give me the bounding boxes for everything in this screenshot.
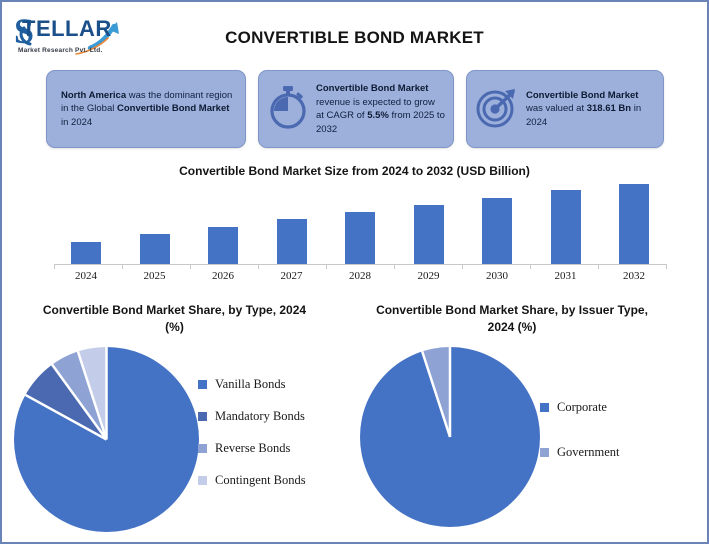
infographic-page: S TELLAR Market Research Pvt. Ltd. CONVE… [0, 0, 709, 544]
pie-left-title: Convertible Bond Market Share, by Type, … [32, 302, 317, 336]
legend-swatch [540, 403, 549, 412]
x-tick-label: 2024 [54, 270, 118, 282]
axis-tick [598, 264, 599, 269]
x-tick-label: 2027 [260, 270, 324, 282]
legend-label: Reverse Bonds [215, 441, 290, 456]
axis-tick [326, 264, 327, 269]
bar-slot [397, 184, 461, 264]
pie-left-legend: Vanilla BondsMandatory BondsReverse Bond… [198, 368, 306, 496]
bar-2028 [345, 212, 375, 264]
bar-chart-plot [54, 184, 666, 264]
legend-item[interactable]: Government [540, 430, 619, 475]
bar-chart-axis [54, 264, 666, 265]
x-tick-label: 2030 [465, 270, 529, 282]
highlight-text-cagr: Convertible Bond Market revenue is expec… [316, 82, 445, 136]
stopwatch-icon [267, 84, 309, 135]
legend-swatch [540, 448, 549, 457]
axis-tick [462, 264, 463, 269]
x-tick-label: 2029 [397, 270, 461, 282]
bar-slot [534, 184, 598, 264]
page-title: CONVERTIBLE BOND MARKET [2, 28, 707, 48]
bar-slot [191, 184, 255, 264]
bar-slot [123, 184, 187, 264]
pie-slice-separators [360, 347, 540, 527]
legend-item[interactable]: Corporate [540, 385, 619, 430]
bar-2026 [208, 227, 238, 264]
bar-2027 [277, 219, 307, 264]
bar-slot [602, 184, 666, 264]
axis-tick [258, 264, 259, 269]
legend-item[interactable]: Contingent Bonds [198, 464, 306, 496]
legend-swatch [198, 476, 207, 485]
bar-slot [260, 184, 324, 264]
bar-slot [465, 184, 529, 264]
legend-label: Mandatory Bonds [215, 409, 305, 424]
highlight-text-region: North America was the dominant region in… [61, 89, 237, 130]
bar-chart-x-labels: 202420252026202720282029203020312032 [54, 270, 666, 282]
x-tick-label: 2032 [602, 270, 666, 282]
x-tick-label: 2028 [328, 270, 392, 282]
bar-2029 [414, 205, 444, 264]
legend-swatch [198, 444, 207, 453]
target-icon [475, 85, 519, 134]
pie-slice-separators [14, 347, 199, 532]
bar-2025 [140, 234, 170, 264]
bar-2032 [619, 184, 649, 264]
axis-tick [666, 264, 667, 269]
bar-chart-title: Convertible Bond Market Size from 2024 t… [2, 164, 707, 178]
bar-slot [328, 184, 392, 264]
highlight-box-cagr: Convertible Bond Market revenue is expec… [258, 70, 454, 148]
pie-right-title: Convertible Bond Market Share, by Issuer… [362, 302, 662, 336]
x-tick-label: 2026 [191, 270, 255, 282]
axis-tick [54, 264, 55, 269]
pie-right-chart [360, 347, 540, 527]
bar-2031 [551, 190, 581, 264]
x-tick-label: 2025 [123, 270, 187, 282]
legend-swatch [198, 380, 207, 389]
bar-slot [54, 184, 118, 264]
axis-tick [190, 264, 191, 269]
pie-right-legend: CorporateGovernment [540, 385, 619, 475]
highlight-boxes: North America was the dominant region in… [46, 70, 664, 148]
legend-label: Government [557, 445, 619, 460]
legend-label: Contingent Bonds [215, 473, 306, 488]
legend-item[interactable]: Reverse Bonds [198, 432, 306, 464]
axis-tick [122, 264, 123, 269]
legend-item[interactable]: Vanilla Bonds [198, 368, 306, 400]
highlight-box-value: Convertible Bond Market was valued at 31… [466, 70, 664, 148]
legend-label: Corporate [557, 400, 607, 415]
bar-2024 [71, 242, 101, 264]
bar-2030 [482, 198, 512, 264]
x-tick-label: 2031 [534, 270, 598, 282]
pie-left-chart [14, 347, 199, 532]
legend-label: Vanilla Bonds [215, 377, 285, 392]
legend-swatch [198, 412, 207, 421]
axis-tick [394, 264, 395, 269]
legend-item[interactable]: Mandatory Bonds [198, 400, 306, 432]
highlight-text-value: Convertible Bond Market was valued at 31… [526, 89, 655, 130]
logo-tagline: Market Research Pvt. Ltd. [18, 47, 102, 54]
highlight-box-region: North America was the dominant region in… [46, 70, 246, 148]
axis-tick [530, 264, 531, 269]
